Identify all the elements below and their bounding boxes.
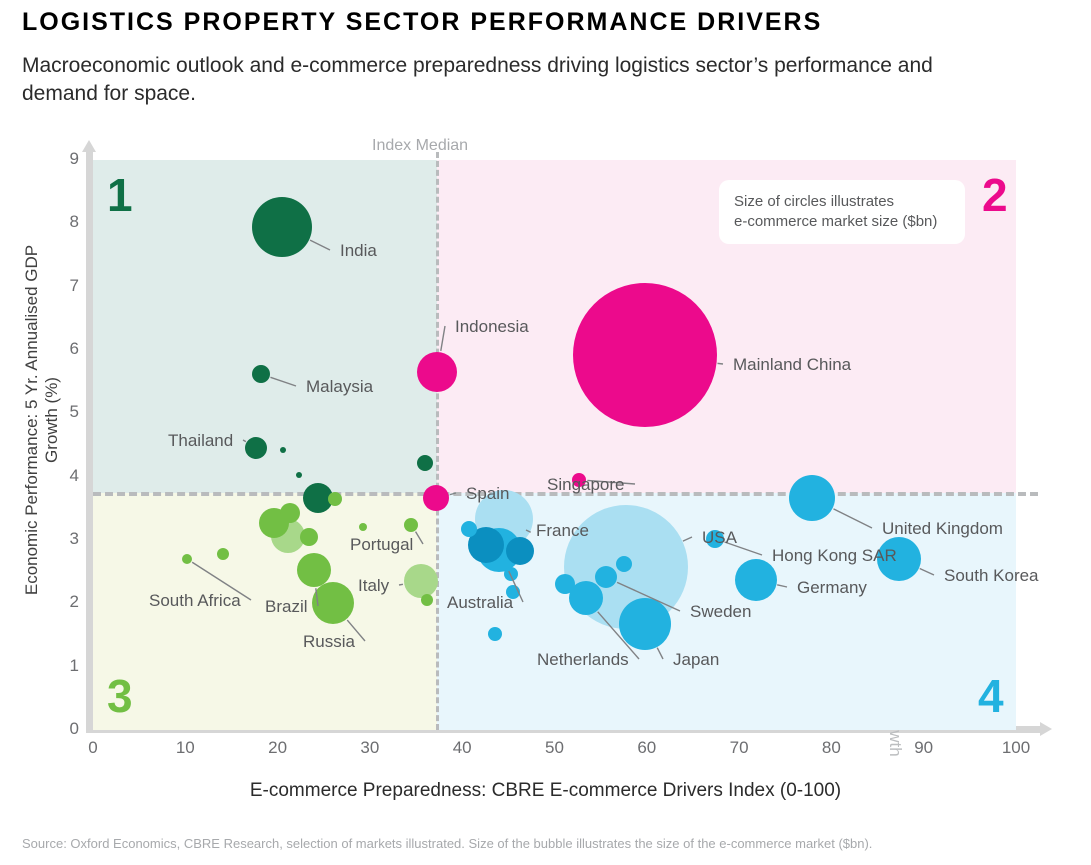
label-usa: USA xyxy=(702,528,737,548)
x-axis-arrow xyxy=(1040,722,1052,736)
label-portugal: Portugal xyxy=(350,535,413,555)
label-italy: Italy xyxy=(358,576,389,596)
bubble-czech[interactable] xyxy=(300,528,318,546)
label-australia: Australia xyxy=(447,593,513,613)
bubble-romania[interactable] xyxy=(421,594,433,606)
y-axis-line xyxy=(86,148,93,733)
bubble-nz[interactable] xyxy=(504,567,518,581)
bubble-hungary[interactable] xyxy=(328,492,342,506)
x-tick-label: 90 xyxy=(904,738,944,758)
label-russia: Russia xyxy=(303,632,355,652)
legend-line-1: Size of circles illustrates xyxy=(734,192,965,212)
label-malaysia: Malaysia xyxy=(306,377,373,397)
quadrant-number-2: 2 xyxy=(982,172,1008,218)
bubble-brazil[interactable] xyxy=(297,553,331,587)
x-axis-label: E-commerce Preparedness: CBRE E-commerce… xyxy=(0,780,1091,802)
label-india: India xyxy=(340,241,377,261)
y-axis-arrow xyxy=(82,140,96,152)
label-france: France xyxy=(536,521,589,541)
bubble-mexico[interactable] xyxy=(280,503,300,523)
bubble-turkey[interactable] xyxy=(217,548,229,560)
label-hong-kong-sar: Hong Kong SAR xyxy=(772,546,897,566)
quadrant-number-3: 3 xyxy=(107,673,133,719)
label-united-kingdom: United Kingdom xyxy=(882,519,1003,539)
y-tick-label: 1 xyxy=(55,656,79,676)
label-south-africa: South Africa xyxy=(149,591,241,611)
bubble-belgium[interactable] xyxy=(506,537,534,565)
label-spain: Spain xyxy=(466,484,509,504)
bubble-russia[interactable] xyxy=(312,582,354,624)
y-axis-label: Economic Performance: 5 Yr. Annualised G… xyxy=(22,220,62,620)
x-tick-label: 80 xyxy=(811,738,851,758)
x-tick-label: 20 xyxy=(258,738,298,758)
quadrant-number-4: 4 xyxy=(978,673,1004,719)
label-singapore: Singapore xyxy=(547,475,625,495)
label-sweden: Sweden xyxy=(690,602,751,622)
source-note: Source: Oxford Economics, CBRE Research,… xyxy=(22,836,872,851)
x-tick-label: 60 xyxy=(627,738,667,758)
x-tick-label: 100 xyxy=(996,738,1036,758)
bubble-mainland-china[interactable] xyxy=(573,283,717,427)
label-south-korea: South Korea xyxy=(944,566,1039,586)
x-tick-label: 50 xyxy=(535,738,575,758)
page-subtitle: Macroeconomic outlook and e-commerce pre… xyxy=(22,52,982,108)
y-tick-label: 9 xyxy=(55,149,79,169)
bubble-united-kingdom[interactable] xyxy=(789,475,835,521)
index-median-label: Index Median xyxy=(372,137,468,155)
x-tick-label: 10 xyxy=(165,738,205,758)
label-mainland-china: Mainland China xyxy=(733,355,851,375)
index-median-line xyxy=(436,152,439,730)
size-legend: Size of circles illustrates e-commerce m… xyxy=(719,180,965,244)
legend-line-2: e-commerce market size ($bn) xyxy=(734,212,965,232)
bubble-india[interactable] xyxy=(252,197,312,257)
bubble-switzerland[interactable] xyxy=(461,521,477,537)
bubble-germany[interactable] xyxy=(735,559,777,601)
label-japan: Japan xyxy=(673,650,719,670)
x-tick-label: 70 xyxy=(719,738,759,758)
bubble-malaysia[interactable] xyxy=(252,365,270,383)
x-tick-label: 40 xyxy=(442,738,482,758)
label-thailand: Thailand xyxy=(168,431,233,451)
bubble-italy[interactable] xyxy=(404,564,438,598)
page-title: LOGISTICS PROPERTY SECTOR PERFORMANCE DR… xyxy=(22,8,822,37)
label-germany: Germany xyxy=(797,578,867,598)
label-indonesia: Indonesia xyxy=(455,317,529,337)
bubble-greece[interactable] xyxy=(359,523,367,531)
bubble-japan[interactable] xyxy=(619,598,671,650)
x-tick-label: 0 xyxy=(73,738,113,758)
bubble-indonesia[interactable] xyxy=(417,352,457,392)
label-brazil: Brazil xyxy=(265,597,308,617)
bubble-denmark[interactable] xyxy=(616,556,632,572)
quadrant-number-1: 1 xyxy=(107,172,133,218)
bubble-norway[interactable] xyxy=(555,574,575,594)
label-netherlands: Netherlands xyxy=(537,650,629,670)
bubble-thailand[interactable] xyxy=(245,437,267,459)
y-tick-label: 0 xyxy=(55,719,79,739)
x-tick-label: 30 xyxy=(350,738,390,758)
bubble-taiwan[interactable] xyxy=(417,455,433,471)
